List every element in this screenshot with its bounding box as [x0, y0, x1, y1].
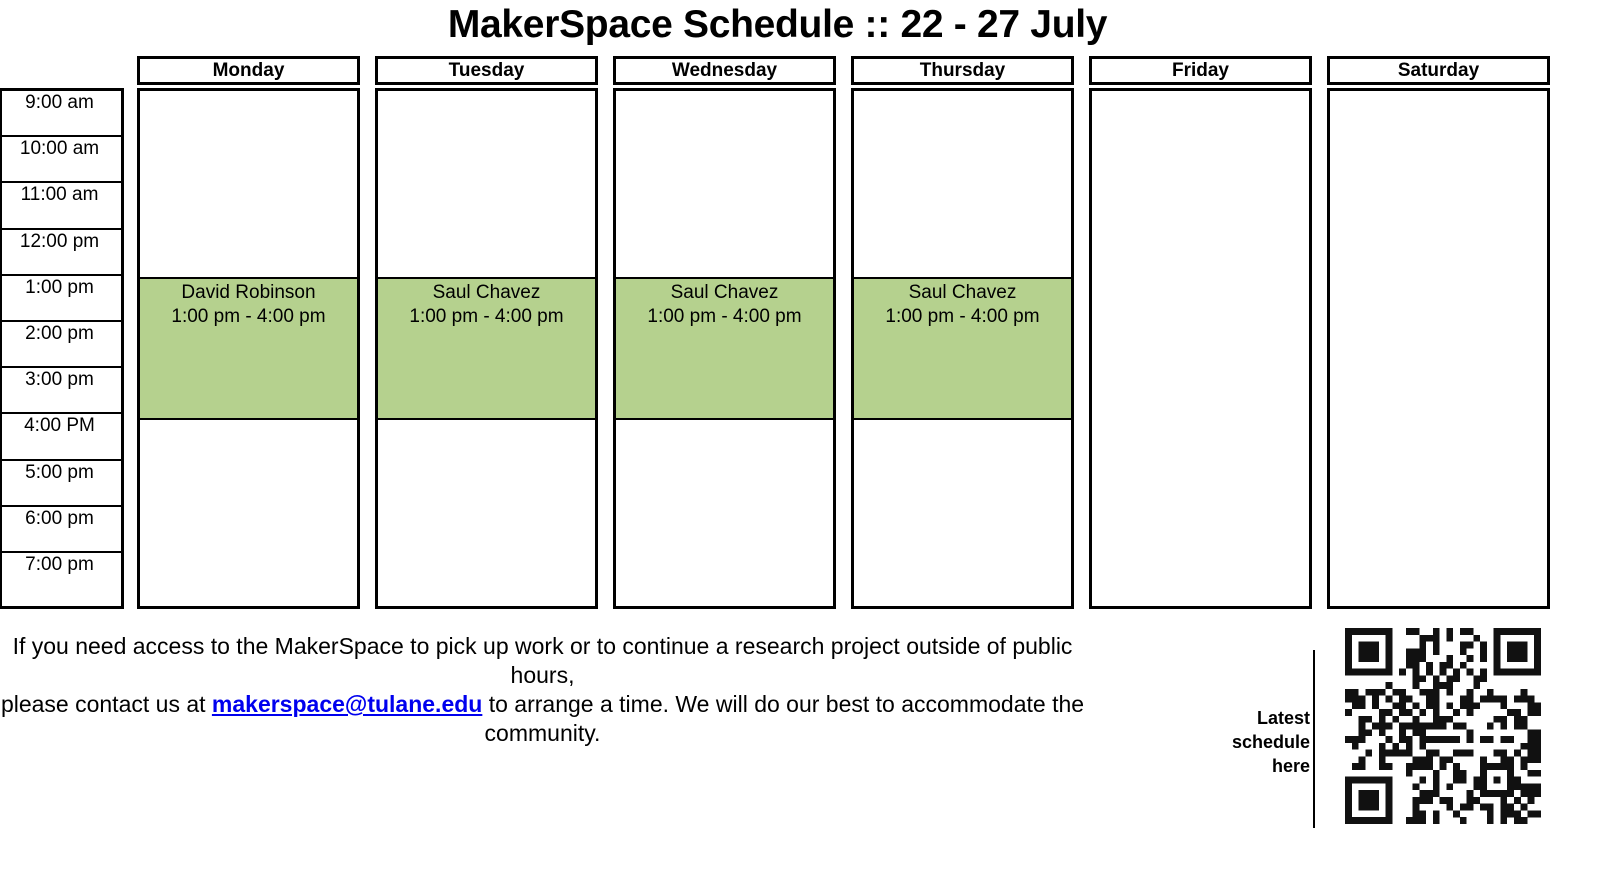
day-header-saturday[interactable]: Saturday — [1327, 56, 1550, 85]
day-body-saturday[interactable] — [1327, 88, 1550, 609]
time-row: 5:00 pm — [2, 461, 121, 507]
time-row: 11:00 am — [2, 183, 121, 229]
footer-line-2-after: to arrange a time. We will do our best t… — [482, 691, 1084, 717]
qr-caption-line-3: here — [1180, 754, 1310, 778]
event-time: 1:00 pm - 4:00 pm — [140, 305, 357, 329]
time-row: 9:00 am — [2, 91, 121, 137]
day-body-friday[interactable] — [1089, 88, 1312, 609]
time-row: 4:00 PM — [2, 414, 121, 460]
footer-line-2: please contact us at makerspace@tulane.e… — [0, 690, 1085, 719]
qr-caption: Latest schedule here — [1180, 706, 1310, 778]
time-label: 12:00 pm — [2, 231, 117, 253]
event-block[interactable]: Saul Chavez1:00 pm - 4:00 pm — [616, 277, 833, 419]
time-row: 12:00 pm — [2, 230, 121, 276]
time-row: 1:00 pm — [2, 276, 121, 322]
time-row: 6:00 pm — [2, 507, 121, 553]
day-body-monday[interactable]: David Robinson1:00 pm - 4:00 pm — [137, 88, 360, 609]
day-column-tuesday: TuesdaySaul Chavez1:00 pm - 4:00 pm — [375, 56, 598, 85]
event-time: 1:00 pm - 4:00 pm — [854, 305, 1071, 329]
time-row: 2:00 pm — [2, 322, 121, 368]
event-time: 1:00 pm - 4:00 pm — [616, 305, 833, 329]
time-label: 6:00 pm — [2, 508, 117, 530]
day-header-friday[interactable]: Friday — [1089, 56, 1312, 85]
day-header-tuesday[interactable]: Tuesday — [375, 56, 598, 85]
event-block[interactable]: David Robinson1:00 pm - 4:00 pm — [140, 277, 357, 419]
event-name: Saul Chavez — [616, 281, 833, 305]
event-name: Saul Chavez — [854, 281, 1071, 305]
footer-line-2-before: please contact us at — [1, 691, 212, 717]
event-time: 1:00 pm - 4:00 pm — [378, 305, 595, 329]
day-header-monday[interactable]: Monday — [137, 56, 360, 85]
time-label: 1:00 pm — [2, 277, 117, 299]
footer-line-1: If you need access to the MakerSpace to … — [0, 632, 1085, 690]
time-label: 3:00 pm — [2, 369, 117, 391]
qr-section: Latest schedule here — [1245, 628, 1545, 838]
footer-note: If you need access to the MakerSpace to … — [0, 632, 1085, 748]
qr-caption-line-1: Latest — [1180, 706, 1310, 730]
time-axis-column: 9:00 am10:00 am11:00 am12:00 pm1:00 pm2:… — [0, 88, 124, 609]
qr-code-icon[interactable] — [1345, 628, 1541, 824]
schedule-calendar: 9:00 am10:00 am11:00 am12:00 pm1:00 pm2:… — [0, 56, 1556, 612]
time-label: 9:00 am — [2, 92, 117, 114]
time-row: 3:00 pm — [2, 368, 121, 414]
time-label: 7:00 pm — [2, 554, 117, 576]
time-row: 7:00 pm — [2, 553, 121, 599]
day-column-thursday: ThursdaySaul Chavez1:00 pm - 4:00 pm — [851, 56, 1074, 85]
qr-divider — [1313, 650, 1315, 828]
event-name: David Robinson — [140, 281, 357, 305]
event-block[interactable]: Saul Chavez1:00 pm - 4:00 pm — [854, 277, 1071, 419]
day-column-saturday: Saturday — [1327, 56, 1550, 85]
day-body-wednesday[interactable]: Saul Chavez1:00 pm - 4:00 pm — [613, 88, 836, 609]
time-row: 10:00 am — [2, 137, 121, 183]
event-name: Saul Chavez — [378, 281, 595, 305]
time-label: 10:00 am — [2, 138, 117, 160]
day-header-wednesday[interactable]: Wednesday — [613, 56, 836, 85]
event-block[interactable]: Saul Chavez1:00 pm - 4:00 pm — [378, 277, 595, 419]
time-label: 5:00 pm — [2, 462, 117, 484]
page-title: MakerSpace Schedule :: 22 - 27 July — [0, 2, 1555, 48]
time-label: 2:00 pm — [2, 323, 117, 345]
day-column-wednesday: WednesdaySaul Chavez1:00 pm - 4:00 pm — [613, 56, 836, 85]
contact-email-link[interactable]: makerspace@tulane.edu — [212, 691, 482, 717]
day-column-monday: MondayDavid Robinson1:00 pm - 4:00 pm — [137, 56, 360, 85]
day-body-tuesday[interactable]: Saul Chavez1:00 pm - 4:00 pm — [375, 88, 598, 609]
footer-line-3: community. — [0, 719, 1085, 748]
day-header-thursday[interactable]: Thursday — [851, 56, 1074, 85]
day-column-friday: Friday — [1089, 56, 1312, 85]
day-body-thursday[interactable]: Saul Chavez1:00 pm - 4:00 pm — [851, 88, 1074, 609]
time-label: 11:00 am — [2, 184, 117, 206]
qr-caption-line-2: schedule — [1180, 730, 1310, 754]
time-label: 4:00 PM — [2, 415, 117, 437]
